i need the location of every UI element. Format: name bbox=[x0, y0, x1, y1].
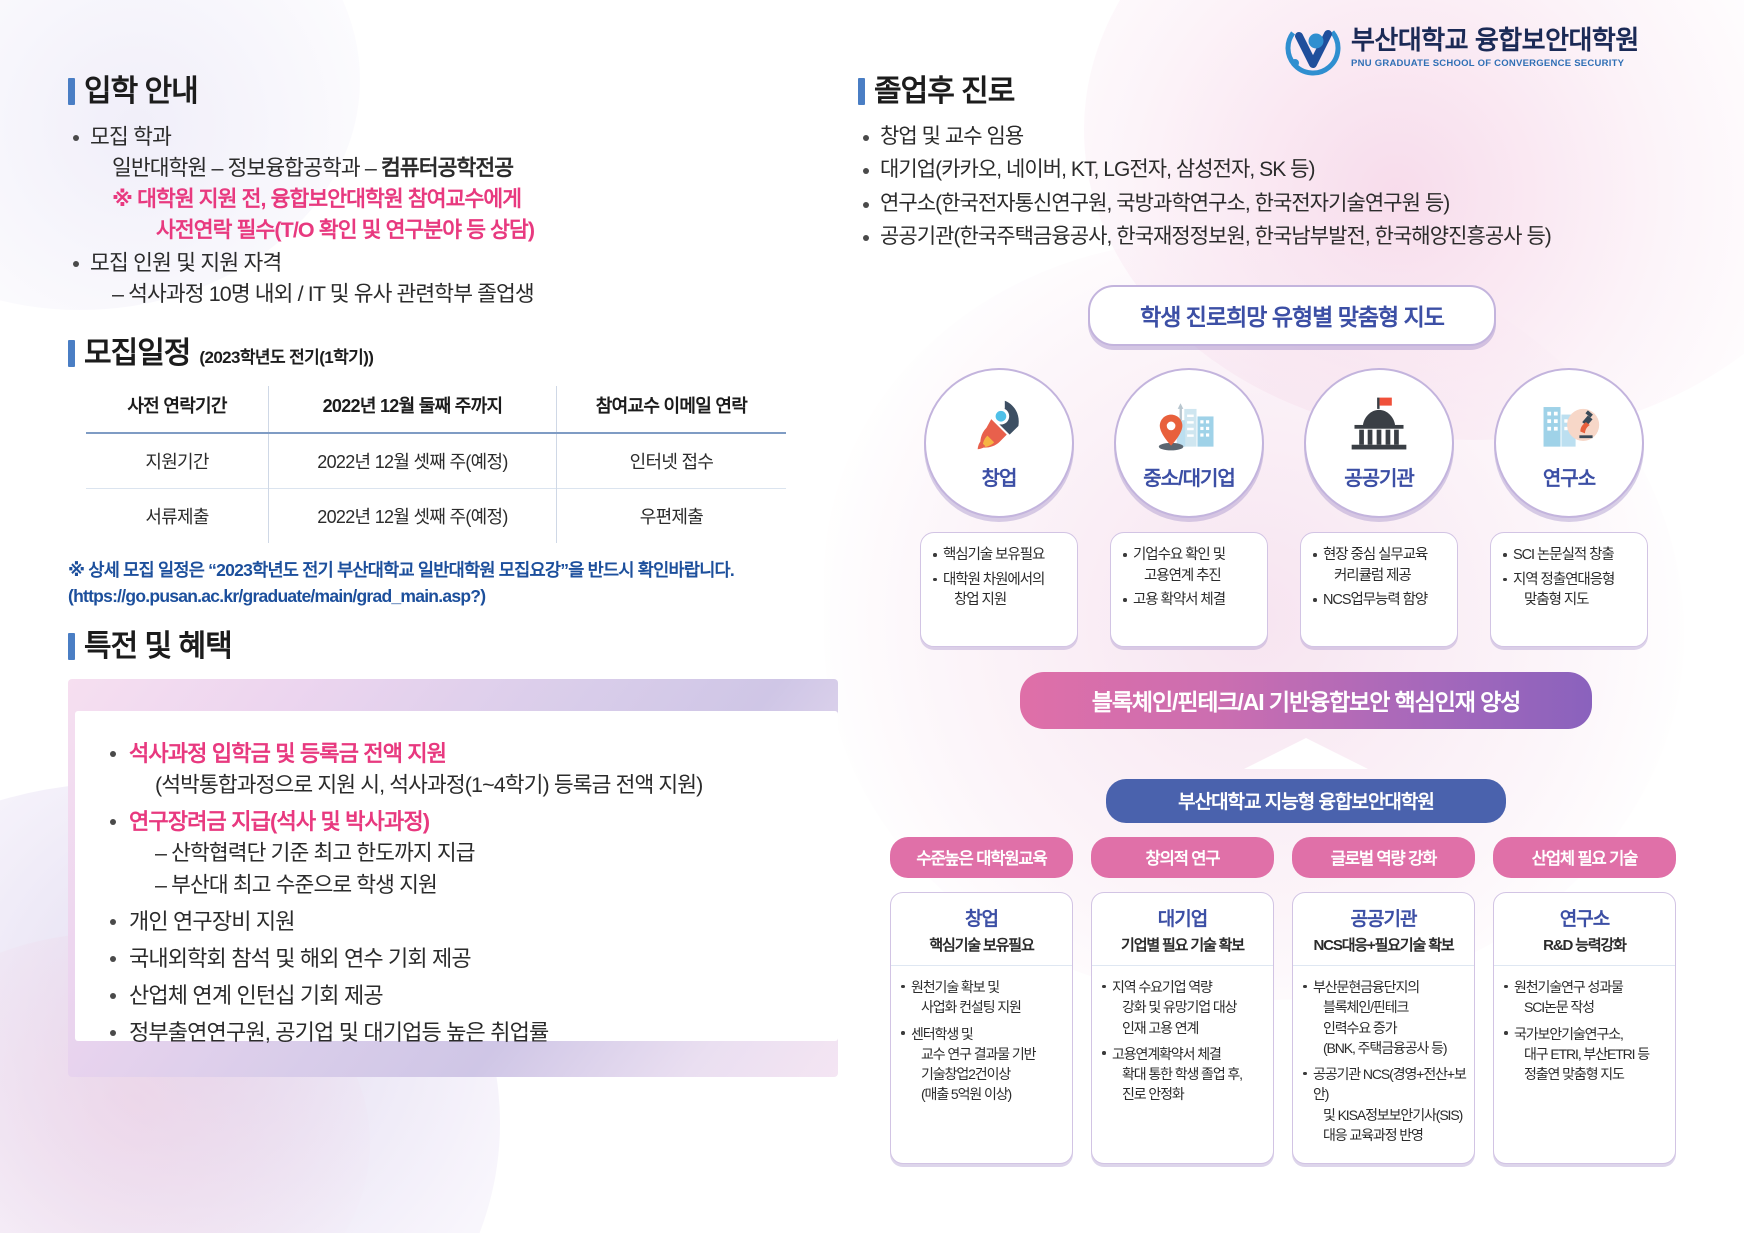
list-item: 연구소(한국전자통신연구원, 국방과학연구소, 한국전자기술연구원 등) bbox=[858, 189, 1678, 219]
table-cell: 지원기간 bbox=[86, 433, 269, 489]
card-header: 공공기관 NCS대응+필요기술 확보 bbox=[1293, 893, 1474, 966]
benefit-text: 정부출연연구원, 공기업 및 대기업등 높은 취업률 bbox=[129, 1020, 548, 1045]
list-item: 창업 및 교수 임용 bbox=[858, 122, 1678, 152]
bullet-text: 고용 확약서 체결 bbox=[1133, 592, 1225, 608]
guidance-track: 창업 핵심기술 보유필요 대학원 차원에서의 창업 지원 bbox=[919, 368, 1079, 647]
card-header: 연구소 R&D 능력강화 bbox=[1494, 893, 1675, 966]
bullet-text: 국가보안기술연구소, bbox=[1514, 1026, 1623, 1042]
track-card: SCI 논문실적 창출 지역 정출연대응형 맞춤형 지도 bbox=[1490, 532, 1648, 647]
table-header-row: 사전 연락기간 2022년 12월 둘째 주까지 참여교수 이메일 연락 bbox=[86, 386, 786, 433]
admission-dept-label: 모집 학과 bbox=[90, 125, 171, 149]
dept-major: 컴퓨터공학전공 bbox=[381, 156, 513, 180]
career-title: 졸업후 진로 bbox=[874, 66, 1014, 110]
list-item: 연구장려금 지급(석사 및 박사과정) – 산학협력단 기준 최고 한도까지 지… bbox=[103, 805, 810, 900]
table-cell: 2022년 12월 셋째 주(예정) bbox=[269, 488, 557, 543]
table-cell: 인터넷 접수 bbox=[556, 433, 786, 489]
benefit-sub: – 산학협력단 기준 최고 한도까지 지급 bbox=[129, 838, 810, 869]
track-card: 기업수요 확인 및 고용연계 추진 고용 확약서 체결 bbox=[1110, 532, 1268, 647]
card-subtitle: 핵심기술 보유필요 bbox=[897, 934, 1066, 955]
poster-page: 부산대학교 융합보안대학원 PNU GRADUATE SCHOOL OF CON… bbox=[0, 0, 1744, 1233]
bullet-cont: 및 KISA정보보안기사(SIS) bbox=[1313, 1105, 1466, 1125]
bullet-cont: 교수 연구 결과물 기반 bbox=[911, 1044, 1064, 1064]
bullet-text: 기업수요 확인 및 bbox=[1133, 547, 1225, 563]
card-title: 창업 bbox=[897, 904, 1066, 931]
pipeline-pill: 창의적 연구 bbox=[1091, 837, 1274, 878]
bullet-cont: (매출 5억원 이상) bbox=[911, 1084, 1064, 1104]
pipeline-card: 창업 핵심기술 보유필요 원천기술 확보 및 사업화 컨설팅 지원 센터학생 및… bbox=[890, 892, 1073, 1164]
schedule-table: 사전 연락기간 2022년 12월 둘째 주까지 참여교수 이메일 연락 지원기… bbox=[86, 386, 786, 543]
schedule-heading: 모집일정 (2023학년도 전기(1학기)) bbox=[68, 328, 808, 372]
track-label: 중소/대기업 bbox=[1143, 462, 1235, 491]
track-circle[interactable]: 중소/대기업 bbox=[1114, 368, 1264, 518]
admission-warning-1: ※ 대학원 지원 전, 융합보안대학원 참여교수에게 bbox=[90, 184, 808, 215]
list-item: 기업수요 확인 및 고용연계 추진 bbox=[1122, 545, 1257, 586]
bullet-text: 원천기술연구 성과물 bbox=[1514, 979, 1623, 995]
benefits-title: 특전 및 혜택 bbox=[84, 621, 232, 665]
list-item: NCS업무능력 함양 bbox=[1312, 590, 1447, 611]
notice-url[interactable]: (https://go.pusan.ac.kr/graduate/main/gr… bbox=[68, 583, 808, 609]
pipeline-card: 연구소 R&D 능력강화 원천기술연구 성과물 SCI논문 작성 국가보안기술연… bbox=[1493, 892, 1676, 1164]
list-item: 정부출연연구원, 공기업 및 대기업등 높은 취업률 bbox=[103, 1016, 810, 1049]
track-card: 핵심기술 보유필요 대학원 차원에서의 창업 지원 bbox=[920, 532, 1078, 647]
bullet-text: 부산문현금융단지의 bbox=[1313, 979, 1419, 995]
list-item: 고용 확약서 체결 bbox=[1122, 590, 1257, 611]
card-title: 연구소 bbox=[1500, 904, 1669, 931]
card-body: 원천기술연구 성과물 SCI논문 작성 국가보안기술연구소, 대구 ETRI, … bbox=[1494, 966, 1675, 1102]
card-title: 공공기관 bbox=[1299, 904, 1468, 931]
pipeline-school-banner: 부산대학교 지능형 융합보안대학원 bbox=[1106, 779, 1506, 823]
bullet-cont: SCI논문 작성 bbox=[1514, 997, 1667, 1017]
track-label: 공공기관 bbox=[1344, 462, 1414, 491]
list-item: 모집 학과 일반대학원 – 정보융합공학과 – 컴퓨터공학전공 ※ 대학원 지원… bbox=[68, 122, 808, 246]
bullet-cont: 맞춤형 지도 bbox=[1513, 590, 1637, 611]
guidance-section: 학생 진로희망 유형별 맞춤형 지도 창업 bbox=[905, 285, 1705, 647]
career-list: 창업 및 교수 임용 대기업(카카오, 네이버, KT, LG전자, 삼성전자,… bbox=[858, 122, 1678, 253]
bullet-text: 센터학생 및 bbox=[911, 1026, 973, 1042]
notice-line-1: ※ 상세 모집 일정은 “2023학년도 전기 부산대학교 일반대학원 모집요강… bbox=[68, 557, 808, 583]
pipeline-pill: 산업체 필요 기술 bbox=[1493, 837, 1676, 878]
pipeline-pill: 글로벌 역량 강화 bbox=[1292, 837, 1475, 878]
bullet-cont: (BNK, 주택금융공사 등) bbox=[1313, 1038, 1466, 1058]
pipeline-pill-row: 수준높은 대학원교육 창의적 연구 글로벌 역량 강화 산업체 필요 기술 bbox=[890, 837, 1726, 878]
bullet-text: 고용연계확약서 체결 bbox=[1112, 1046, 1221, 1062]
benefits-box: 석사과정 입학금 및 등록금 전액 지원 (석박통합과정으로 지원 시, 석사과… bbox=[68, 679, 838, 1077]
pipeline-goal-banner: 블록체인/핀테크/AI 기반융합보안 핵심인재 양성 bbox=[1020, 672, 1592, 729]
admission-dept-line: 일반대학원 – 정보융합공학과 – 컴퓨터공학전공 bbox=[90, 153, 808, 184]
bullet-cont: 강화 및 유망기업 대상 bbox=[1112, 997, 1265, 1017]
table-row: 서류제출 2022년 12월 셋째 주(예정) 우편제출 bbox=[86, 488, 786, 543]
column-header: 2022년 12월 둘째 주까지 bbox=[269, 386, 557, 433]
logo-title: 부산대학교 융합보안대학원 bbox=[1351, 27, 1639, 54]
admission-title: 입학 안내 bbox=[84, 66, 198, 110]
benefit-text: 국내외학회 참석 및 해외 연수 기회 제공 bbox=[129, 946, 471, 971]
heading-bar-icon bbox=[68, 340, 75, 367]
guidance-track: 연구소 SCI 논문실적 창출 지역 정출연대응형 맞춤형 지도 bbox=[1489, 368, 1649, 647]
admission-quota-line: – 석사과정 10명 내외 / IT 및 유사 관련학부 졸업생 bbox=[90, 279, 808, 310]
guidance-track: 중소/대기업 기업수요 확인 및 고용연계 추진 고용 확약서 체결 bbox=[1109, 368, 1269, 647]
bullet-text: 원천기술 확보 및 bbox=[911, 979, 999, 995]
rocket-icon bbox=[968, 388, 1030, 460]
heading-bar-icon bbox=[68, 633, 75, 660]
list-item: 현장 중심 실무교육 커리큘럼 제공 bbox=[1312, 545, 1447, 586]
table-row: 지원기간 2022년 12월 셋째 주(예정) 인터넷 접수 bbox=[86, 433, 786, 489]
government-building-icon bbox=[1346, 388, 1412, 460]
column-header: 사전 연락기간 bbox=[86, 386, 269, 433]
guidance-track-row: 창업 핵심기술 보유필요 대학원 차원에서의 창업 지원 bbox=[919, 368, 1705, 647]
bullet-text: 지역 정출연대응형 bbox=[1513, 572, 1614, 588]
card-subtitle: R&D 능력강화 bbox=[1500, 934, 1669, 955]
card-body: 지역 수요기업 역량 강화 및 유망기업 대상 인재 고용 연계 고용연계확약서… bbox=[1092, 966, 1273, 1123]
benefit-text: 개인 연구장비 지원 bbox=[129, 909, 295, 934]
left-column: 입학 안내 모집 학과 일반대학원 – 정보융합공학과 – 컴퓨터공학전공 ※ … bbox=[68, 66, 808, 1077]
card-header: 대기업 기업별 필요 기술 확보 bbox=[1092, 893, 1273, 966]
list-item: 산업체 연계 인턴십 기회 제공 bbox=[103, 979, 810, 1012]
up-arrow-icon bbox=[1244, 738, 1368, 769]
pipeline-pill: 수준높은 대학원교육 bbox=[890, 837, 1073, 878]
benefit-sub: – 부산대 최고 수준으로 학생 지원 bbox=[129, 870, 810, 901]
list-item: 석사과정 입학금 및 등록금 전액 지원 (석박통합과정으로 지원 시, 석사과… bbox=[103, 737, 810, 801]
bullet-cont: 사업화 컨설팅 지원 bbox=[911, 997, 1064, 1017]
track-label: 연구소 bbox=[1543, 462, 1595, 491]
bullet-text: 핵심기술 보유필요 bbox=[943, 547, 1044, 563]
admission-quota-label: 모집 인원 및 지원 자격 bbox=[90, 251, 282, 275]
card-subtitle: NCS대응+필요기술 확보 bbox=[1299, 934, 1468, 955]
list-item: 원천기술 확보 및 사업화 컨설팅 지원 bbox=[901, 977, 1064, 1018]
benefits-inner: 석사과정 입학금 및 등록금 전액 지원 (석박통합과정으로 지원 시, 석사과… bbox=[75, 711, 838, 1041]
bullet-text: SCI 논문실적 창출 bbox=[1513, 547, 1614, 563]
guidance-track: 공공기관 현장 중심 실무교육 커리큘럼 제공 NCS업무능력 함양 bbox=[1299, 368, 1459, 647]
bullet-cont: 창업 지원 bbox=[943, 590, 1067, 611]
table-cell: 2022년 12월 셋째 주(예정) bbox=[269, 433, 557, 489]
schedule-notice: ※ 상세 모집 일정은 “2023학년도 전기 부산대학교 일반대학원 모집요강… bbox=[68, 557, 808, 610]
heading-bar-icon bbox=[68, 78, 75, 105]
schedule-section: 모집일정 (2023학년도 전기(1학기)) 사전 연락기간 2022년 12월… bbox=[68, 328, 808, 610]
list-item: 국가보안기술연구소, 대구 ETRI, 부산ETRI 등 정출연 맞춤형 지도 bbox=[1504, 1024, 1667, 1085]
guidance-banner: 학생 진로희망 유형별 맞춤형 지도 bbox=[1088, 285, 1496, 346]
card-body: 원천기술 확보 및 사업화 컨설팅 지원 센터학생 및 교수 연구 결과물 기반… bbox=[891, 966, 1072, 1123]
list-item: 개인 연구장비 지원 bbox=[103, 905, 810, 938]
admission-warning-2: 사전연락 필수(T/O 확인 및 연구분야 등 상담) bbox=[90, 215, 808, 246]
list-item: 핵심기술 보유필요 bbox=[932, 545, 1067, 566]
bullet-text: NCS업무능력 함양 bbox=[1323, 592, 1427, 608]
bullet-text: 공공기관 NCS(경영+전산+보안) bbox=[1313, 1066, 1466, 1102]
bullet-cont: 기술창업2건이상 bbox=[911, 1064, 1064, 1084]
card-title: 대기업 bbox=[1098, 904, 1267, 931]
schedule-note: (2023학년도 전기(1학기)) bbox=[199, 343, 373, 368]
table-cell: 서류제출 bbox=[86, 488, 269, 543]
list-item: 부산문현금융단지의 블록체인/핀테크 인력수요 증가 (BNK, 주택금융공사 … bbox=[1303, 977, 1466, 1058]
list-item: 대학원 차원에서의 창업 지원 bbox=[932, 570, 1067, 611]
bullet-cont: 고용연계 추진 bbox=[1133, 566, 1257, 587]
bullet-text: 현장 중심 실무교육 bbox=[1323, 547, 1427, 563]
card-header: 창업 핵심기술 보유필요 bbox=[891, 893, 1072, 966]
list-item: 모집 인원 및 지원 자격 – 석사과정 10명 내외 / IT 및 유사 관련… bbox=[68, 248, 808, 310]
right-column: 졸업후 진로 창업 및 교수 임용 대기업(카카오, 네이버, KT, LG전자… bbox=[858, 66, 1678, 256]
track-circle[interactable]: 창업 bbox=[924, 368, 1074, 518]
bullet-cont: 정출연 맞춤형 지도 bbox=[1514, 1064, 1667, 1084]
bullet-cont: 커리큘럼 제공 bbox=[1323, 566, 1447, 587]
list-item: 지역 수요기업 역량 강화 및 유망기업 대상 인재 고용 연계 bbox=[1102, 977, 1265, 1038]
bullet-cont: 대응 교육과정 반영 bbox=[1313, 1125, 1466, 1145]
schedule-title: 모집일정 bbox=[84, 328, 190, 372]
admission-list: 모집 학과 일반대학원 – 정보융합공학과 – 컴퓨터공학전공 ※ 대학원 지원… bbox=[68, 122, 808, 310]
city-pin-icon bbox=[1156, 388, 1222, 460]
track-circle[interactable]: 연구소 bbox=[1494, 368, 1644, 518]
pipeline-section: 블록체인/핀테크/AI 기반융합보안 핵심인재 양성 부산대학교 지능형 융합보… bbox=[886, 672, 1726, 1164]
card-body: 부산문현금융단지의 블록체인/핀테크 인력수요 증가 (BNK, 주택금융공사 … bbox=[1293, 966, 1474, 1163]
pipeline-card-row: 창업 핵심기술 보유필요 원천기술 확보 및 사업화 컨설팅 지원 센터학생 및… bbox=[890, 892, 1726, 1164]
benefit-sub: (석박통합과정으로 지원 시, 석사과정(1~4학기) 등록금 전액 지원) bbox=[129, 770, 810, 801]
list-item: 대기업(카카오, 네이버, KT, LG전자, 삼성전자, SK 등) bbox=[858, 155, 1678, 185]
track-circle[interactable]: 공공기관 bbox=[1304, 368, 1454, 518]
list-item: 원천기술연구 성과물 SCI논문 작성 bbox=[1504, 977, 1667, 1018]
benefits-heading: 특전 및 혜택 bbox=[68, 621, 808, 665]
card-subtitle: 기업별 필요 기술 확보 bbox=[1098, 934, 1267, 955]
admission-heading: 입학 안내 bbox=[68, 66, 808, 110]
table-cell: 우편제출 bbox=[556, 488, 786, 543]
bullet-cont: 인력수요 증가 bbox=[1313, 1018, 1466, 1038]
benefit-text: 산업체 연계 인턴십 기회 제공 bbox=[129, 983, 383, 1008]
list-item: 공공기관 NCS(경영+전산+보안) 및 KISA정보보안기사(SIS) 대응 … bbox=[1303, 1064, 1466, 1145]
pipeline-card: 공공기관 NCS대응+필요기술 확보 부산문현금융단지의 블록체인/핀테크 인력… bbox=[1292, 892, 1475, 1164]
list-item: 센터학생 및 교수 연구 결과물 기반 기술창업2건이상 (매출 5억원 이상) bbox=[901, 1024, 1064, 1105]
lab-microscope-icon bbox=[1536, 388, 1602, 460]
list-item: 국내외학회 참석 및 해외 연수 기회 제공 bbox=[103, 942, 810, 975]
bullet-cont: 블록체인/핀테크 bbox=[1313, 997, 1466, 1017]
bullet-cont: 인재 고용 연계 bbox=[1112, 1018, 1265, 1038]
benefits-list: 석사과정 입학금 및 등록금 전액 지원 (석박통합과정으로 지원 시, 석사과… bbox=[103, 737, 810, 1049]
bullet-text: 지역 수요기업 역량 bbox=[1112, 979, 1212, 995]
bullet-cont: 진로 안정화 bbox=[1112, 1084, 1265, 1104]
list-item: 고용연계확약서 체결 확대 통한 학생 졸업 후, 진로 안정화 bbox=[1102, 1044, 1265, 1105]
benefit-text: 연구장려금 지급(석사 및 박사과정) bbox=[129, 809, 429, 834]
list-item: SCI 논문실적 창출 bbox=[1502, 545, 1637, 566]
column-header: 참여교수 이메일 연락 bbox=[556, 386, 786, 433]
bullet-cont: 확대 통한 학생 졸업 후, bbox=[1112, 1064, 1265, 1084]
benefit-text: 석사과정 입학금 및 등록금 전액 지원 bbox=[129, 741, 446, 766]
track-label: 창업 bbox=[982, 462, 1017, 491]
list-item: 지역 정출연대응형 맞춤형 지도 bbox=[1502, 570, 1637, 611]
bullet-cont: 대구 ETRI, 부산ETRI 등 bbox=[1514, 1044, 1667, 1064]
track-card: 현장 중심 실무교육 커리큘럼 제공 NCS업무능력 함양 bbox=[1300, 532, 1458, 647]
bullet-text: 대학원 차원에서의 bbox=[943, 572, 1044, 588]
pipeline-card: 대기업 기업별 필요 기술 확보 지역 수요기업 역량 강화 및 유망기업 대상… bbox=[1091, 892, 1274, 1164]
career-heading: 졸업후 진로 bbox=[858, 66, 1678, 110]
heading-bar-icon bbox=[858, 78, 865, 105]
dept-path: 일반대학원 – 정보융합공학과 – bbox=[112, 156, 381, 180]
list-item: 공공기관(한국주택금융공사, 한국재정정보원, 한국남부발전, 한국해양진흥공사… bbox=[858, 222, 1678, 252]
